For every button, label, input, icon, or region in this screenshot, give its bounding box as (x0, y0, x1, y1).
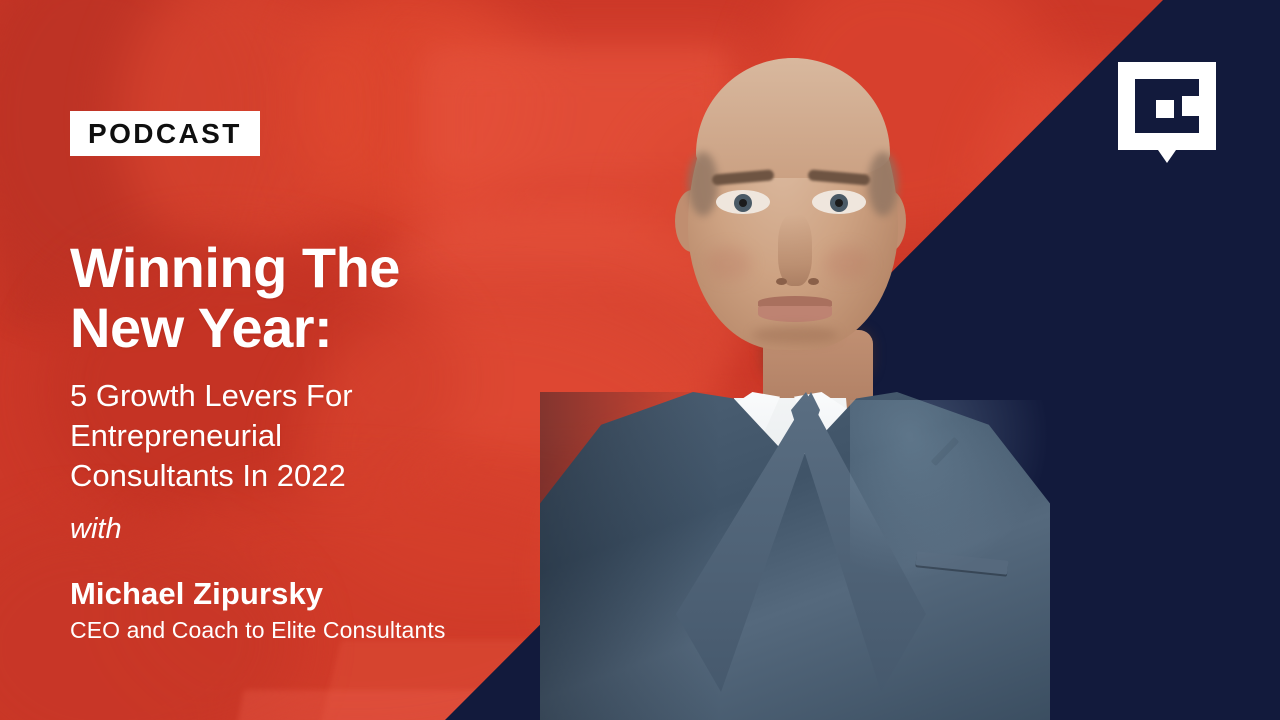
title-line-1: Winning The (70, 236, 400, 299)
speaker-role: CEO and Coach to Elite Consultants (70, 619, 445, 642)
portrait-hair-right (868, 152, 898, 216)
portrait-nostril-left (776, 278, 787, 285)
portrait-pupil-left (739, 199, 747, 207)
portrait-nose (778, 214, 812, 286)
portrait-scalp (696, 58, 890, 178)
subtitle-line-3: Consultants In 2022 (70, 458, 346, 493)
portrait-cheek-right (824, 246, 870, 280)
speaker-portrait (520, 0, 1060, 720)
page-title: Winning The New Year: (70, 238, 400, 358)
subtitle-line-1: 5 Growth Levers For (70, 378, 353, 413)
speaker-name: Michael Zipursky (70, 578, 323, 609)
portrait-pupil-right (835, 199, 843, 207)
portrait-jacket-shading (540, 392, 720, 720)
portrait-cheek-left (706, 246, 752, 280)
page-subtitle: 5 Growth Levers For Entrepreneurial Cons… (70, 376, 353, 496)
portrait-lower-lip (758, 306, 832, 322)
subtitle-line-2: Entrepreneurial (70, 418, 282, 453)
title-line-2: New Year: (70, 296, 332, 359)
portrait-nostril-right (808, 278, 819, 285)
with-label: with (70, 515, 122, 544)
podcast-badge: PODCAST (70, 111, 260, 156)
portrait-chin-shadow (752, 326, 838, 344)
consulting-success-logo[interactable] (1118, 62, 1216, 167)
portrait-shoulder-highlight (850, 400, 1050, 580)
podcast-cover-slide: PODCAST Winning The New Year: 5 Growth L… (0, 0, 1280, 720)
